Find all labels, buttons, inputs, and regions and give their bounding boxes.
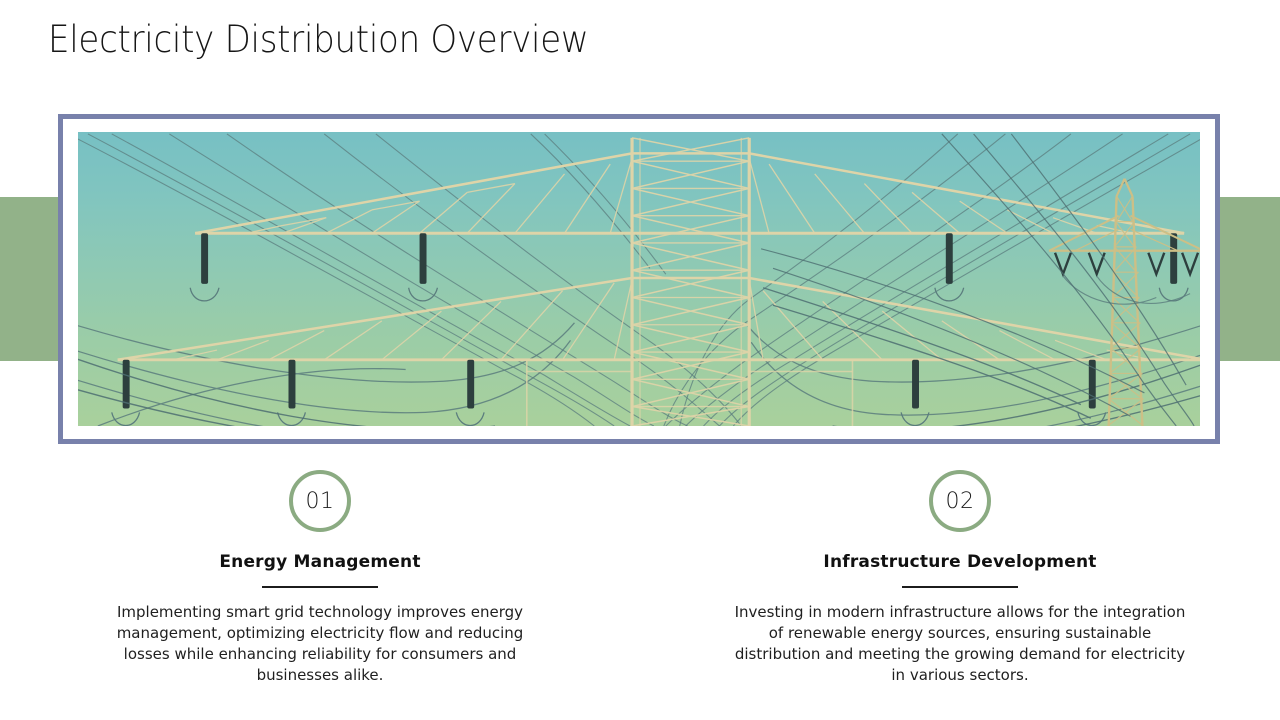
item-body-2: Investing in modern infrastructure allow… — [734, 602, 1186, 686]
hero-photo — [78, 132, 1200, 426]
secondary-tower — [1049, 179, 1200, 426]
hero-image-frame — [58, 114, 1220, 444]
feature-item-1: 01 Energy Management Implementing smart … — [0, 470, 640, 686]
insulators-lower — [112, 360, 1106, 426]
item-title-1: Energy Management — [219, 552, 420, 572]
decorative-bar-right — [1218, 197, 1280, 361]
item-divider-2 — [902, 586, 1018, 588]
item-number-badge-2: 02 — [929, 470, 991, 532]
item-title-2: Infrastructure Development — [823, 552, 1096, 572]
slide-canvas: Electricity Distribution Overview — [0, 0, 1280, 720]
item-body-1: Implementing smart grid technology impro… — [94, 602, 546, 686]
item-divider-1 — [262, 586, 378, 588]
transmission-towers-illustration — [78, 132, 1200, 426]
feature-item-2: 02 Infrastructure Development Investing … — [640, 470, 1280, 686]
item-number-badge-1: 01 — [289, 470, 351, 532]
feature-items: 01 Energy Management Implementing smart … — [0, 470, 1280, 686]
page-title: Electricity Distribution Overview — [48, 18, 588, 61]
decorative-bar-left — [0, 197, 62, 361]
